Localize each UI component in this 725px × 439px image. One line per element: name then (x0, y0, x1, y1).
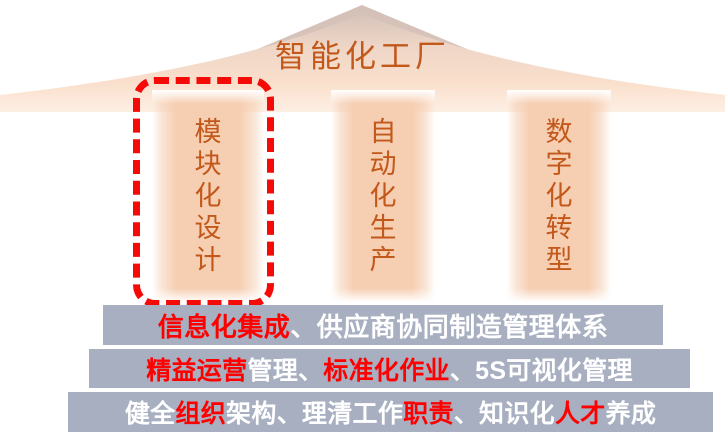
pillar-char: 字 (546, 148, 573, 180)
bar-segment-emphasis: 精益运营 (146, 351, 247, 387)
bar-segment: 、5S可视化管理 (450, 351, 633, 387)
bar-segment-emphasis: 标准化作业 (323, 351, 450, 387)
bar-segment-emphasis: 信息化集成 (158, 307, 291, 344)
foundation-bar-3: 健全组织架构、理清工作职责、知识化人才养成 (68, 392, 713, 432)
pillar-digital-transformation[interactable]: 数 字 化 转 型 (507, 90, 611, 302)
pillar-char: 块 (195, 148, 222, 180)
bar-segment: 、供应商协同制造管理体系 (290, 307, 608, 344)
pillar-char: 数 (546, 116, 573, 148)
pillar-automated-production[interactable]: 自 动 化 生 产 (331, 90, 435, 302)
pillar-char: 型 (546, 244, 573, 276)
bar-segment-emphasis: 组织 (175, 394, 226, 430)
pillar-char: 产 (370, 244, 397, 276)
pillar-char: 生 (370, 212, 397, 244)
pillar-char: 计 (195, 244, 222, 276)
bar-segment: 、知识化 (454, 394, 555, 430)
pillar-char: 模 (195, 116, 222, 148)
pillar-char: 自 (370, 116, 397, 148)
bar-segment: 养成 (606, 394, 657, 430)
pillar-char: 转 (546, 212, 573, 244)
bar-segment-emphasis: 职责 (403, 394, 454, 430)
bar-segment: 健全 (125, 394, 176, 430)
pillar-char: 设 (195, 212, 222, 244)
pillar-char: 化 (370, 180, 397, 212)
diagram-canvas: 智能化工厂 模 块 化 设 计 自 动 化 生 产 数 字 化 转 型 信息化集… (0, 0, 725, 439)
pillar-modular-design[interactable]: 模 块 化 设 计 (152, 90, 264, 302)
bar-segment: 架构、理清工作 (226, 394, 403, 430)
bar-segment: 管理、 (247, 351, 323, 387)
pillar-char: 化 (195, 180, 222, 212)
foundation-bar-1: 信息化集成、供应商协同制造管理体系 (103, 305, 663, 345)
foundation-bar-2: 精益运营管理、标准化作业、5S可视化管理 (89, 349, 690, 388)
bar-segment-emphasis: 人才 (555, 394, 606, 430)
pillar-char: 化 (546, 180, 573, 212)
pillar-char: 动 (370, 148, 397, 180)
